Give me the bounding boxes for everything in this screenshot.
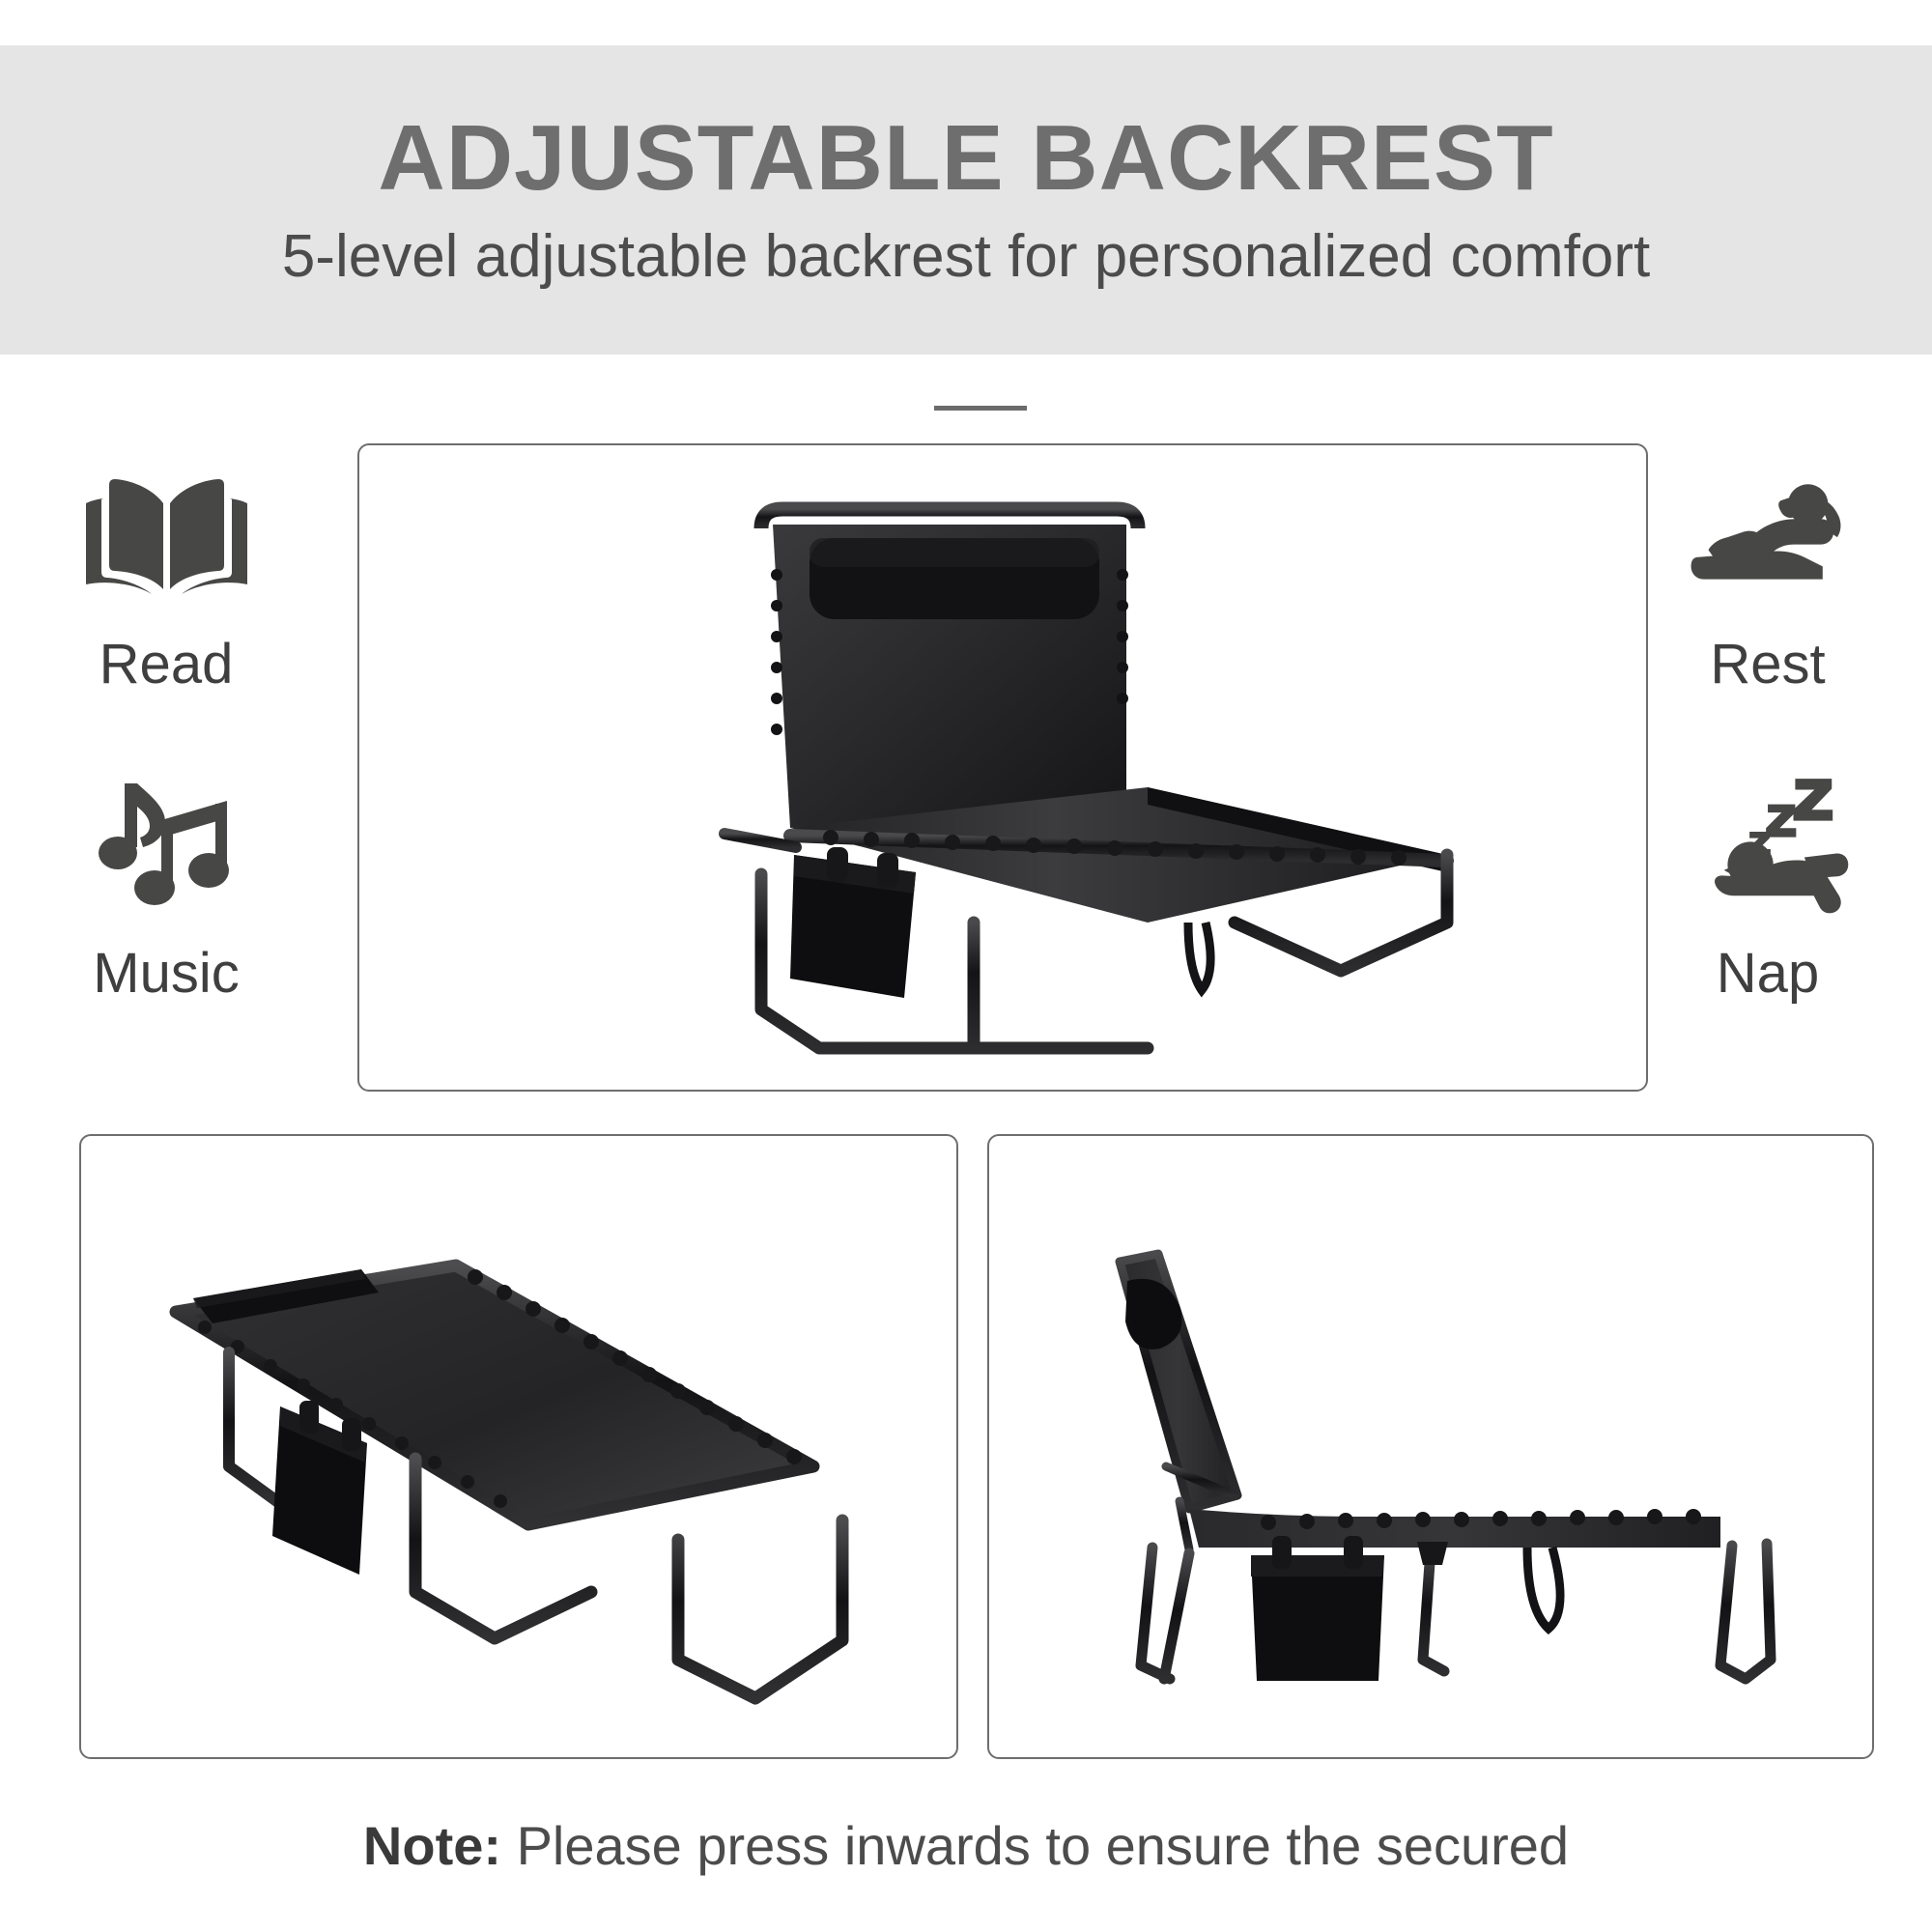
feature-music: Music [21, 763, 311, 1002]
feature-label-nap: Nap [1717, 946, 1819, 1002]
flat-product-photo-card[interactable] [79, 1134, 958, 1759]
flat-product-photo [81, 1136, 956, 1757]
side-profile-photo [989, 1136, 1872, 1757]
music-notes-icon [82, 763, 251, 932]
footer-note-label: Note: [363, 1815, 501, 1876]
feature-label-read: Read [99, 637, 234, 693]
feature-label-rest: Rest [1710, 637, 1825, 693]
main-product-photo-card[interactable] [357, 443, 1648, 1092]
feature-rest: Rest [1623, 454, 1913, 693]
feature-read: Read [21, 454, 311, 693]
person-sleeping-zzz-icon [1684, 763, 1853, 932]
page-subtitle: 5-level adjustable backrest for personal… [282, 224, 1650, 290]
section-divider [934, 406, 1027, 411]
main-product-photo [359, 445, 1646, 1090]
feature-label-music: Music [93, 946, 239, 1002]
open-book-icon [82, 454, 251, 623]
header-banner: ADJUSTABLE BACKREST 5-level adjustable b… [0, 45, 1932, 355]
feature-nap: Nap [1623, 763, 1913, 1002]
person-reclining-icon [1684, 454, 1853, 623]
footer-note: Note: Please press inwards to ensure the… [0, 1816, 1932, 1876]
page-title: ADJUSTABLE BACKREST [378, 110, 1553, 208]
footer-note-text: Please press inwards to ensure the secur… [517, 1815, 1569, 1876]
side-profile-photo-card[interactable] [987, 1134, 1874, 1759]
